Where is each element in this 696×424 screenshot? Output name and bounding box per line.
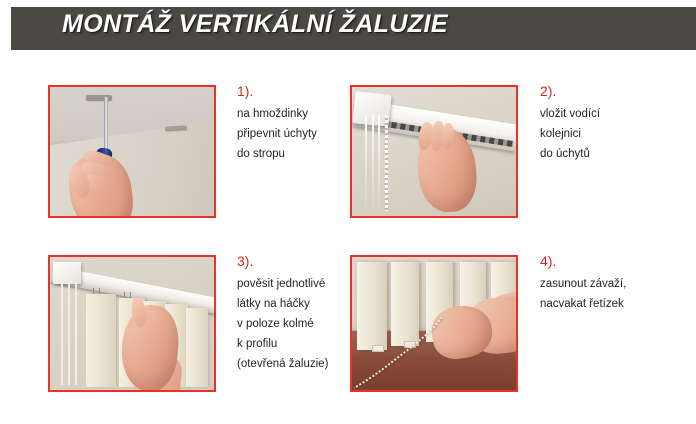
step-2-text: 2). vložit vodící kolejnici do úchytů bbox=[540, 80, 600, 164]
step-3-line-2: látky na háčky bbox=[237, 294, 328, 314]
step-3-photo bbox=[48, 255, 216, 392]
step-1-line-2: připevnit úchyty bbox=[237, 124, 317, 144]
control-cord bbox=[68, 281, 70, 385]
step-4-line-1: zasunout závaží, bbox=[540, 274, 626, 294]
step-1-number: 1). bbox=[237, 80, 317, 102]
step-2-line-3: do úchytů bbox=[540, 144, 600, 164]
control-cord bbox=[365, 115, 367, 208]
control-cord bbox=[75, 281, 77, 385]
step-2-line-1: vložit vodící bbox=[540, 104, 600, 124]
hands-attaching-bottom-weights-and-chain-image bbox=[352, 257, 516, 390]
page-title: MONTÁŽ VERTIKÁLNÍ ŽALUZIE bbox=[62, 10, 448, 39]
instruction-steps-grid: 1). na hmoždinky připevnit úchyty do str… bbox=[0, 50, 696, 424]
ceiling-bracket-near bbox=[86, 95, 112, 100]
control-cord bbox=[378, 115, 380, 208]
step-3-line-4: k profilu bbox=[237, 334, 328, 354]
bottom-weight bbox=[404, 341, 416, 348]
step-4-photo bbox=[350, 255, 518, 392]
step-3-line-5: (otevřená žaluzie) bbox=[237, 354, 328, 374]
step-1-photo bbox=[48, 85, 216, 218]
step-4-line-2: nacvakat řetízek bbox=[540, 294, 626, 314]
fabric-vane bbox=[86, 294, 116, 387]
screwdriver-mounting-bracket-to-ceiling-image bbox=[50, 87, 214, 216]
screwdriver-shaft bbox=[104, 97, 108, 151]
step-3-number: 3). bbox=[237, 250, 328, 272]
fabric-vane bbox=[186, 308, 208, 388]
step-4-text: 4). zasunout závaží, nacvakat řetízek bbox=[540, 250, 626, 314]
step-3-line-3: v poloze kolmé bbox=[237, 314, 328, 334]
step-2-line-2: kolejnici bbox=[540, 124, 600, 144]
control-chain bbox=[385, 115, 388, 210]
ceiling-bracket-far bbox=[165, 125, 187, 130]
control-cord bbox=[372, 115, 374, 208]
fabric-vane bbox=[357, 262, 387, 350]
step-1-line-1: na hmoždinky bbox=[237, 104, 317, 124]
step-1-line-3: do stropu bbox=[237, 144, 317, 164]
fabric-vane bbox=[391, 262, 419, 346]
step-2-number: 2). bbox=[540, 80, 600, 102]
step-2-photo bbox=[350, 85, 518, 218]
hand-inserting-headrail-into-brackets-image bbox=[352, 87, 516, 216]
step-1-text: 1). na hmoždinky připevnit úchyty do str… bbox=[237, 80, 317, 164]
bottom-weight bbox=[372, 345, 384, 352]
control-cord bbox=[61, 281, 63, 385]
step-4-number: 4). bbox=[540, 250, 626, 272]
step-3-line-1: pověsit jednotlivé bbox=[237, 274, 328, 294]
hand-hanging-fabric-vanes-on-hooks-image bbox=[50, 257, 214, 390]
step-3-text: 3). pověsit jednotlivé látky na háčky v … bbox=[237, 250, 328, 374]
